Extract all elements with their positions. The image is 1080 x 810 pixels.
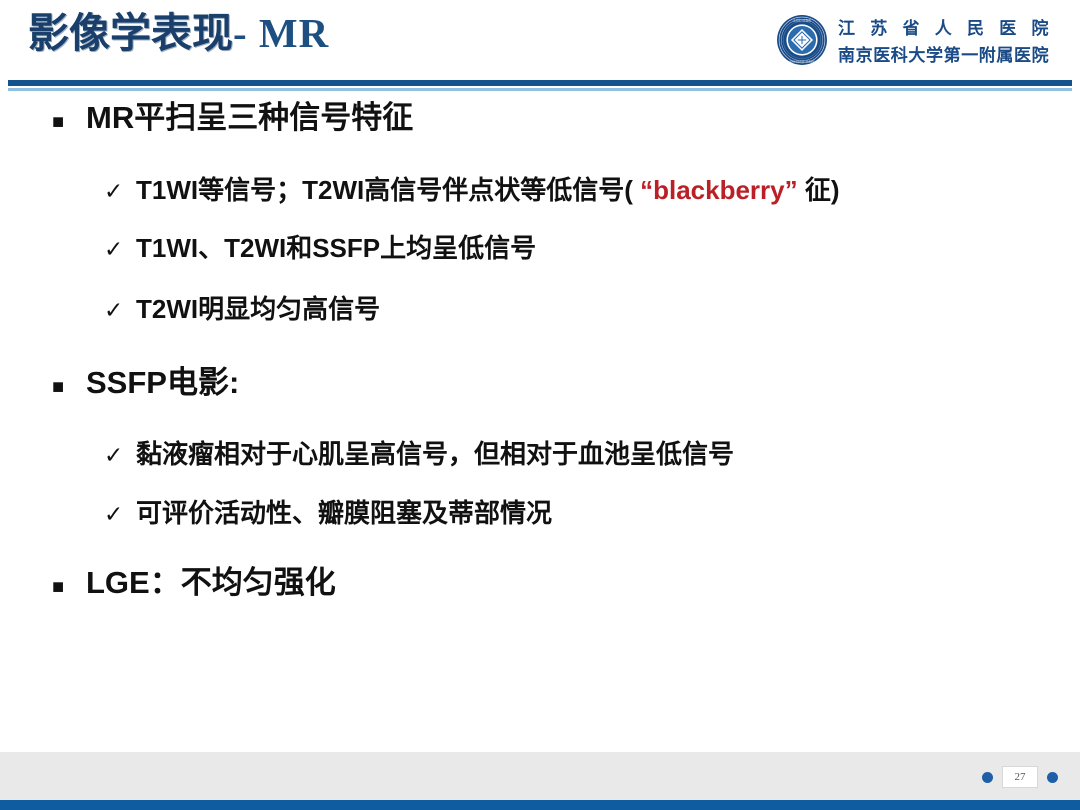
square-bullet-icon: ■ xyxy=(52,577,86,597)
bullet-level2-label: T1WI、T2WI和SSFP上均呈低信号 xyxy=(136,233,536,264)
bullet-level1-mr-plain-scan: ■ MR平扫呈三种信号特征 xyxy=(52,100,1080,137)
bullet-level2-t2wi-high-signal: ✓ T2WI明显均匀高信号 xyxy=(104,294,1080,325)
bullet-level2-mobility-valve: ✓ 可评价活动性、瓣膜阻塞及蒂部情况 xyxy=(104,498,1080,529)
check-bullet-icon: ✓ xyxy=(104,299,136,322)
square-bullet-icon: ■ xyxy=(52,112,86,132)
page-title-en: - MR xyxy=(233,10,329,56)
bullet-level1-label: LGE：不均匀强化 xyxy=(86,565,336,602)
bullet-level2-low-signal-all: ✓ T1WI、T2WI和SSFP上均呈低信号 xyxy=(104,233,1080,264)
bullet-level2-label: 可评价活动性、瓣膜阻塞及蒂部情况 xyxy=(136,498,552,529)
pager-dot-left-icon xyxy=(982,772,993,783)
bullet-level2-label: T1WI等信号；T2WI高信号伴点状等低信号( “blackberry” 征) xyxy=(136,175,840,206)
pager: 27 xyxy=(982,766,1058,788)
hospital-logo: 江苏省人民医院 南京医科大学第一附属医院 江 苏 省 人 民 医 院 南京医科大… xyxy=(776,14,1054,66)
bullet-level1-lge: ■ LGE：不均匀强化 xyxy=(52,565,1080,602)
bullet-level1-label: MR平扫呈三种信号特征 xyxy=(86,100,413,137)
page-number: 27 xyxy=(1002,766,1038,788)
bullet-level2-label: T2WI明显均匀高信号 xyxy=(136,294,380,325)
hospital-emblem-icon: 江苏省人民医院 南京医科大学第一附属医院 xyxy=(776,14,828,66)
blackberry-text-post: 征) xyxy=(805,175,840,205)
svg-text:江苏省人民医院: 江苏省人民医院 xyxy=(793,18,812,22)
bullet-level2-myxoma-signal: ✓ 黏液瘤相对于心肌呈高信号，但相对于血池呈低信号 xyxy=(104,439,1080,470)
hospital-name-primary: 江 苏 省 人 民 医 院 xyxy=(838,14,1054,39)
blackberry-highlight: “blackberry” xyxy=(640,175,798,205)
check-bullet-icon: ✓ xyxy=(104,238,136,261)
check-bullet-icon: ✓ xyxy=(104,503,136,526)
bullet-level1-label: SSFP电影: xyxy=(86,365,239,402)
check-bullet-icon: ✓ xyxy=(104,444,136,467)
square-bullet-icon: ■ xyxy=(52,377,86,397)
slide-header: 影像学表现- MR 江苏省人民医院 南京医科大学第一附属医院 xyxy=(0,0,1080,80)
bullet-level2-t1wi-t2wi-blackberry: ✓ T1WI等信号；T2WI高信号伴点状等低信号( “blackberry” 征… xyxy=(104,175,1080,206)
slide: 影像学表现- MR 江苏省人民医院 南京医科大学第一附属医院 xyxy=(0,0,1080,810)
page-title: 影像学表现- MR xyxy=(28,13,329,54)
bullet-level1-ssfp-cine: ■ SSFP电影: xyxy=(52,365,1080,402)
header-divider-thin xyxy=(8,88,1072,91)
pager-dot-right-icon xyxy=(1047,772,1058,783)
footer-strip xyxy=(0,752,1080,800)
bullet-level2-label: 黏液瘤相对于心肌呈高信号，但相对于血池呈低信号 xyxy=(136,439,734,470)
header-divider-thick xyxy=(8,80,1072,86)
page-title-cn: 影像学表现 xyxy=(28,10,233,56)
check-bullet-icon: ✓ xyxy=(104,180,136,203)
hospital-logo-text: 江 苏 省 人 民 医 院 南京医科大学第一附属医院 xyxy=(838,14,1054,66)
blackberry-text-pre: T1WI等信号；T2WI高信号伴点状等低信号( xyxy=(136,175,633,205)
footer-bar xyxy=(0,800,1080,810)
hospital-name-secondary: 南京医科大学第一附属医院 xyxy=(838,41,1054,66)
slide-body: ■ MR平扫呈三种信号特征 ✓ T1WI等信号；T2WI高信号伴点状等低信号( … xyxy=(0,100,1080,601)
